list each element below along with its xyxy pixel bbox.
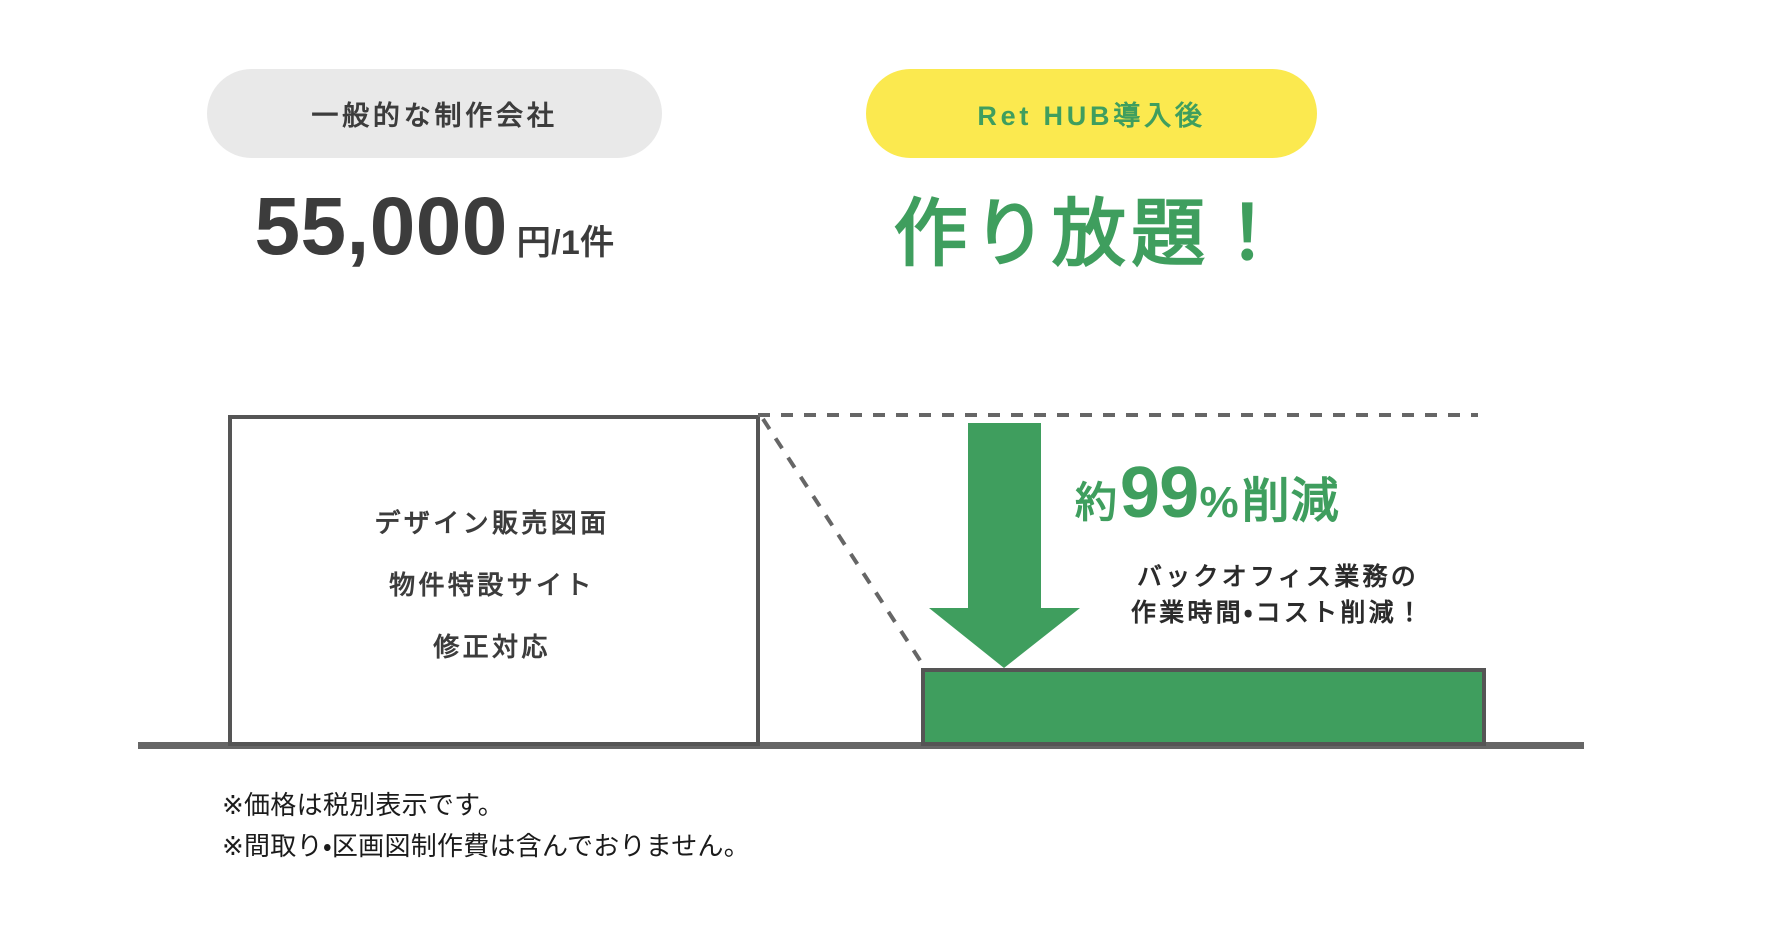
footnote-item: ※間取り・区画図制作費は含んでおりません。 <box>222 826 750 867</box>
reduction-prefix: 約 <box>1075 469 1118 530</box>
downward-arrow-icon <box>929 423 1080 668</box>
footnote-item: ※価格は税別表示です。 <box>222 785 750 826</box>
badge-ret-hub: Ret HUB導入後 <box>866 69 1317 158</box>
list-item: デザイン販売図面 <box>232 510 752 536</box>
drop-diagonal-dashed-line <box>763 419 925 668</box>
price-unit: 円/1件 <box>517 226 615 260</box>
footnotes: ※価格は税別表示です。 ※間取り・区画図制作費は含んでおりません。 <box>222 785 750 867</box>
list-item: 修正対応 <box>232 634 752 660</box>
badge-ret-hub-label: Ret HUB導入後 <box>977 94 1205 133</box>
infographic-canvas: 一般的な制作会社 Ret HUB導入後 55,000 円/1件 作り放題！ デザ… <box>0 0 1768 940</box>
bar-ret-hub <box>923 670 1484 744</box>
reduction-subtext: バックオフィス業務の 作業時間・コスト削減！ <box>1088 560 1468 631</box>
badge-general-agency-label: 一般的な制作会社 <box>311 94 557 133</box>
reduction-headline: 約 99 % 削減 <box>1075 452 1340 534</box>
baseline-rule <box>138 742 1584 749</box>
price-headline: 55,000 円/1件 <box>207 186 662 286</box>
list-item: 物件特設サイト <box>232 572 752 598</box>
general-agency-item-list: デザイン販売図面 物件特設サイト 修正対応 <box>232 510 752 660</box>
badge-general-agency: 一般的な制作会社 <box>207 69 662 158</box>
reduction-subtext-line-2: 作業時間・コスト削減！ <box>1088 596 1468 632</box>
reduction-suffix: 削減 <box>1242 461 1340 531</box>
reduction-number: 99 <box>1120 452 1199 534</box>
price-amount: 55,000 <box>255 186 508 268</box>
percent-sign: % <box>1200 478 1239 528</box>
unlimited-headline: 作り放題！ <box>866 184 1317 284</box>
reduction-subtext-line-1: バックオフィス業務の <box>1088 560 1468 596</box>
